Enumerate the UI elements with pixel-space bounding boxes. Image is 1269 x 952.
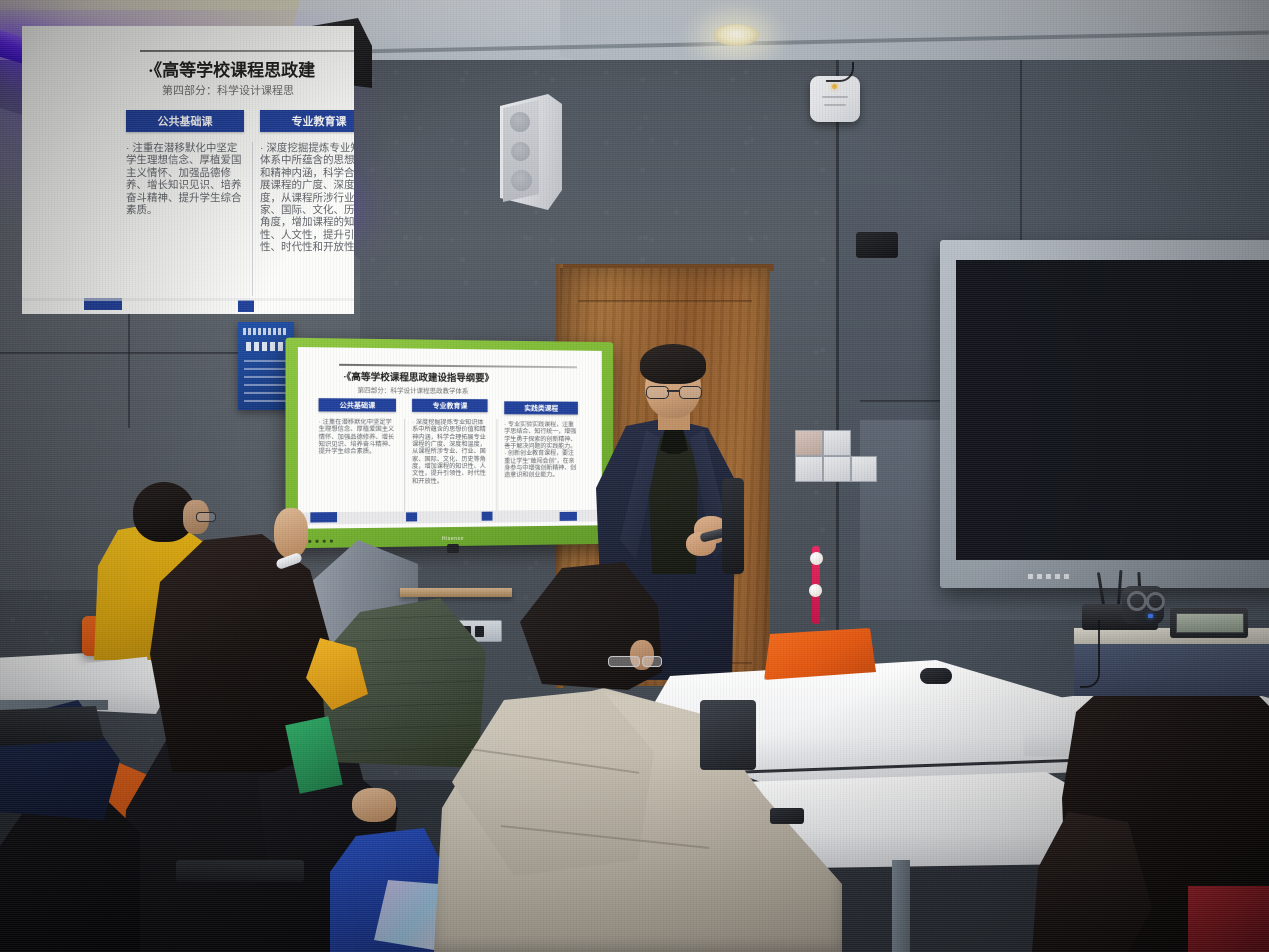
switch-plate-icon[interactable] — [795, 456, 823, 482]
glasses-icon — [608, 656, 660, 666]
slide-band — [298, 510, 602, 525]
slide-chip — [560, 512, 577, 521]
display-indicator-leds — [308, 540, 333, 543]
left-slide-subtitle: 第四部分：科学设计课程思政教学体系 — [357, 384, 468, 395]
glasses-icon — [646, 386, 700, 397]
left-display[interactable]: ·《高等学校课程思政建设指导纲要》 第四部分：科学设计课程思政教学体系 公共基础… — [285, 338, 613, 549]
switch-plate-icon[interactable] — [823, 456, 851, 482]
slide-chip — [406, 512, 417, 521]
display-brand-mark: Hisense — [442, 536, 464, 542]
switch-plate-icon[interactable] — [795, 430, 823, 456]
desk-leg — [892, 860, 910, 952]
right-column-body-2: · 深度挖掘提炼专业知识体系中所蕴含的思想价值和精神内涵，科学合理拓展课程的广度… — [260, 142, 354, 292]
slide-chip — [482, 512, 493, 521]
computer-mouse-icon[interactable] — [920, 668, 952, 684]
plaque-header — [243, 328, 287, 335]
left-column-header-3: 实践类课程 — [504, 401, 578, 414]
column-divider — [404, 419, 405, 512]
laptop-icon[interactable] — [700, 700, 756, 770]
wifi-detail — [824, 104, 846, 106]
left-column-header-1: 公共基础课 — [319, 398, 396, 412]
plaque-text — [244, 360, 288, 402]
plaque-title — [246, 342, 284, 351]
av-panel-display — [1176, 613, 1244, 633]
wall-shelf — [400, 588, 512, 597]
right-display[interactable] — [940, 240, 1269, 588]
slide-rule — [140, 50, 354, 52]
left-slide-title: ·《高等学校课程思政建设指导纲要》 — [343, 369, 494, 384]
wifi-status-led — [832, 84, 837, 89]
chair[interactable] — [764, 628, 876, 680]
slide-chip — [310, 512, 337, 522]
right-display-screen[interactable]: ·《高等学校课程思政建 第四部分：科学设计课程思 公共基础课 专业教育课 · 注… — [22, 26, 354, 314]
keyboard-icon[interactable] — [176, 860, 304, 882]
presenter-pointer-device — [722, 478, 744, 574]
port-icon — [475, 626, 484, 637]
mic-ring — [1146, 592, 1165, 611]
left-display-screen[interactable]: ·《高等学校课程思政建设指导纲要》 第四部分：科学设计课程思政教学体系 公共基础… — [298, 347, 602, 529]
speaker-cone — [511, 142, 530, 161]
left-column-body-2: · 深度挖掘提炼专业知识体系中所蕴含的思想价值和精神内涵，科学合理拓展专业课程的… — [412, 419, 487, 510]
display-power-button[interactable] — [447, 544, 459, 553]
wifi-detail — [822, 96, 848, 98]
pole-ball — [809, 584, 822, 597]
left-slide: ·《高等学校课程思政建设指导纲要》 第四部分：科学设计课程思政教学体系 公共基础… — [298, 347, 602, 529]
right-column-header-2: 专业教育课 — [260, 110, 354, 132]
wall-mounted-box — [856, 232, 898, 258]
av-console-body — [1074, 644, 1269, 696]
speaker-cone — [511, 170, 532, 191]
column-divider — [496, 419, 497, 510]
audience-hand — [274, 508, 308, 558]
right-display-logo — [1028, 574, 1072, 579]
mic-ring — [1127, 591, 1147, 611]
audience-hand — [352, 788, 396, 822]
glasses-icon — [196, 512, 216, 522]
right-column-body-1: · 注重在潜移默化中坚定学生理想信念、厚植爱国主义情怀、加强品德修养、增长知识见… — [126, 142, 244, 292]
right-slide-subtitle: 第四部分：科学设计课程思 — [162, 82, 294, 98]
mic-status-led — [1148, 614, 1153, 618]
panel-seam — [1020, 60, 1022, 250]
left-column-body-1: · 注重在潜移默化中坚定学生理想信念、厚植爱国主义情怀、加强品德修养、增长知识见… — [319, 419, 396, 511]
door-panel-line — [578, 300, 752, 302]
slide-rule — [339, 364, 577, 368]
right-column-header-1: 公共基础课 — [126, 110, 244, 132]
right-slide-title: ·《高等学校课程思政建 — [148, 56, 315, 81]
red-garment — [1188, 886, 1269, 952]
wifi-access-point-icon — [810, 76, 860, 122]
av-cable — [1080, 620, 1100, 688]
presenter-hair — [640, 344, 706, 384]
left-column-header-2: 专业教育课 — [412, 399, 487, 412]
right-slide: ·《高等学校课程思政建 第四部分：科学设计课程思 公共基础课 专业教育课 · 注… — [22, 26, 354, 314]
desk-equipment — [0, 706, 104, 746]
switch-plate-icon[interactable] — [823, 430, 851, 456]
classroom-photo: ·《高等学校课程思政建 第四部分：科学设计课程思 公共基础课 专业教育课 · 注… — [0, 0, 1269, 952]
column-divider — [252, 142, 253, 296]
slide-band — [22, 298, 354, 301]
left-column-body-3: · 专业实验实践课程，注重学思结合、知行统一，增强学生勇于探索的创新精神、善于解… — [504, 421, 578, 510]
downlight-icon — [713, 24, 759, 46]
slide-chip — [238, 300, 254, 312]
phone-icon[interactable] — [770, 808, 804, 824]
switch-plate-icon[interactable] — [851, 456, 877, 482]
right-display-bezel — [956, 260, 1269, 560]
pole-ball — [810, 552, 823, 565]
speaker-cone — [510, 112, 530, 132]
